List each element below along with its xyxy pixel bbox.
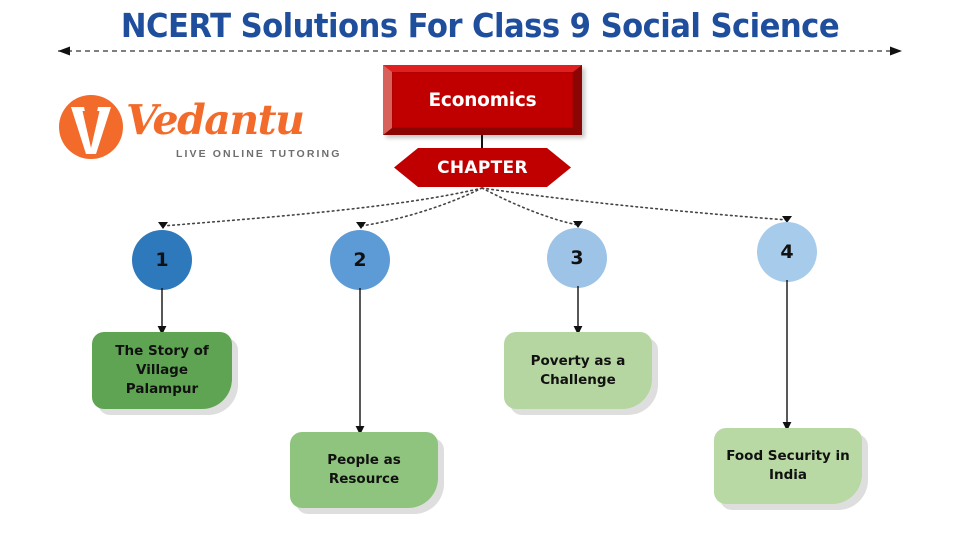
connector-circle-2-to-box-2	[353, 288, 367, 436]
vedantu-logo: Vedantu LIVE ONLINE TUTORING	[58, 92, 273, 170]
chapter-box-label: Food Security in India	[724, 447, 852, 485]
connector-circle-4-to-box-4	[780, 280, 794, 432]
chapter-number-label: 4	[780, 241, 793, 263]
chapter-number-circle-1[interactable]: 1	[132, 230, 192, 290]
root-node-economics[interactable]: Economics	[383, 65, 582, 135]
chapter-number-circle-4[interactable]: 4	[757, 222, 817, 282]
root-node-face: Economics	[392, 72, 573, 128]
connector-circle-3-to-box-3	[571, 286, 585, 336]
divider-dashed-arrow-icon	[44, 44, 916, 58]
chapter-number-label: 1	[155, 249, 168, 271]
chapter-box-3[interactable]: Poverty as a Challenge	[504, 332, 652, 409]
chapter-box-label: The Story of Village Palampur	[102, 342, 222, 399]
chapter-number-circle-2[interactable]: 2	[330, 230, 390, 290]
chapter-box-1[interactable]: The Story of Village Palampur	[92, 332, 232, 409]
root-node-label: Economics	[429, 90, 537, 111]
diagram-canvas: NCERT Solutions For Class 9 Social Scien…	[0, 0, 960, 540]
chapter-number-label: 2	[353, 249, 366, 271]
connector-circle-1-to-box-1	[155, 288, 169, 336]
chapter-box-4[interactable]: Food Security in India	[714, 428, 862, 504]
chapter-box-label: People as Resource	[300, 451, 428, 489]
logo-tagline: LIVE ONLINE TUTORING	[176, 148, 341, 160]
chapter-number-circle-3[interactable]: 3	[547, 228, 607, 288]
chapter-box-label: Poverty as a Challenge	[514, 352, 642, 390]
chapter-number-label: 3	[570, 247, 583, 269]
logo-wordmark: Vedantu	[126, 95, 303, 145]
page-title: NCERT Solutions For Class 9 Social Scien…	[34, 6, 927, 45]
vedantu-v-circle-icon	[58, 94, 124, 160]
chapter-box-2[interactable]: People as Resource	[290, 432, 438, 508]
